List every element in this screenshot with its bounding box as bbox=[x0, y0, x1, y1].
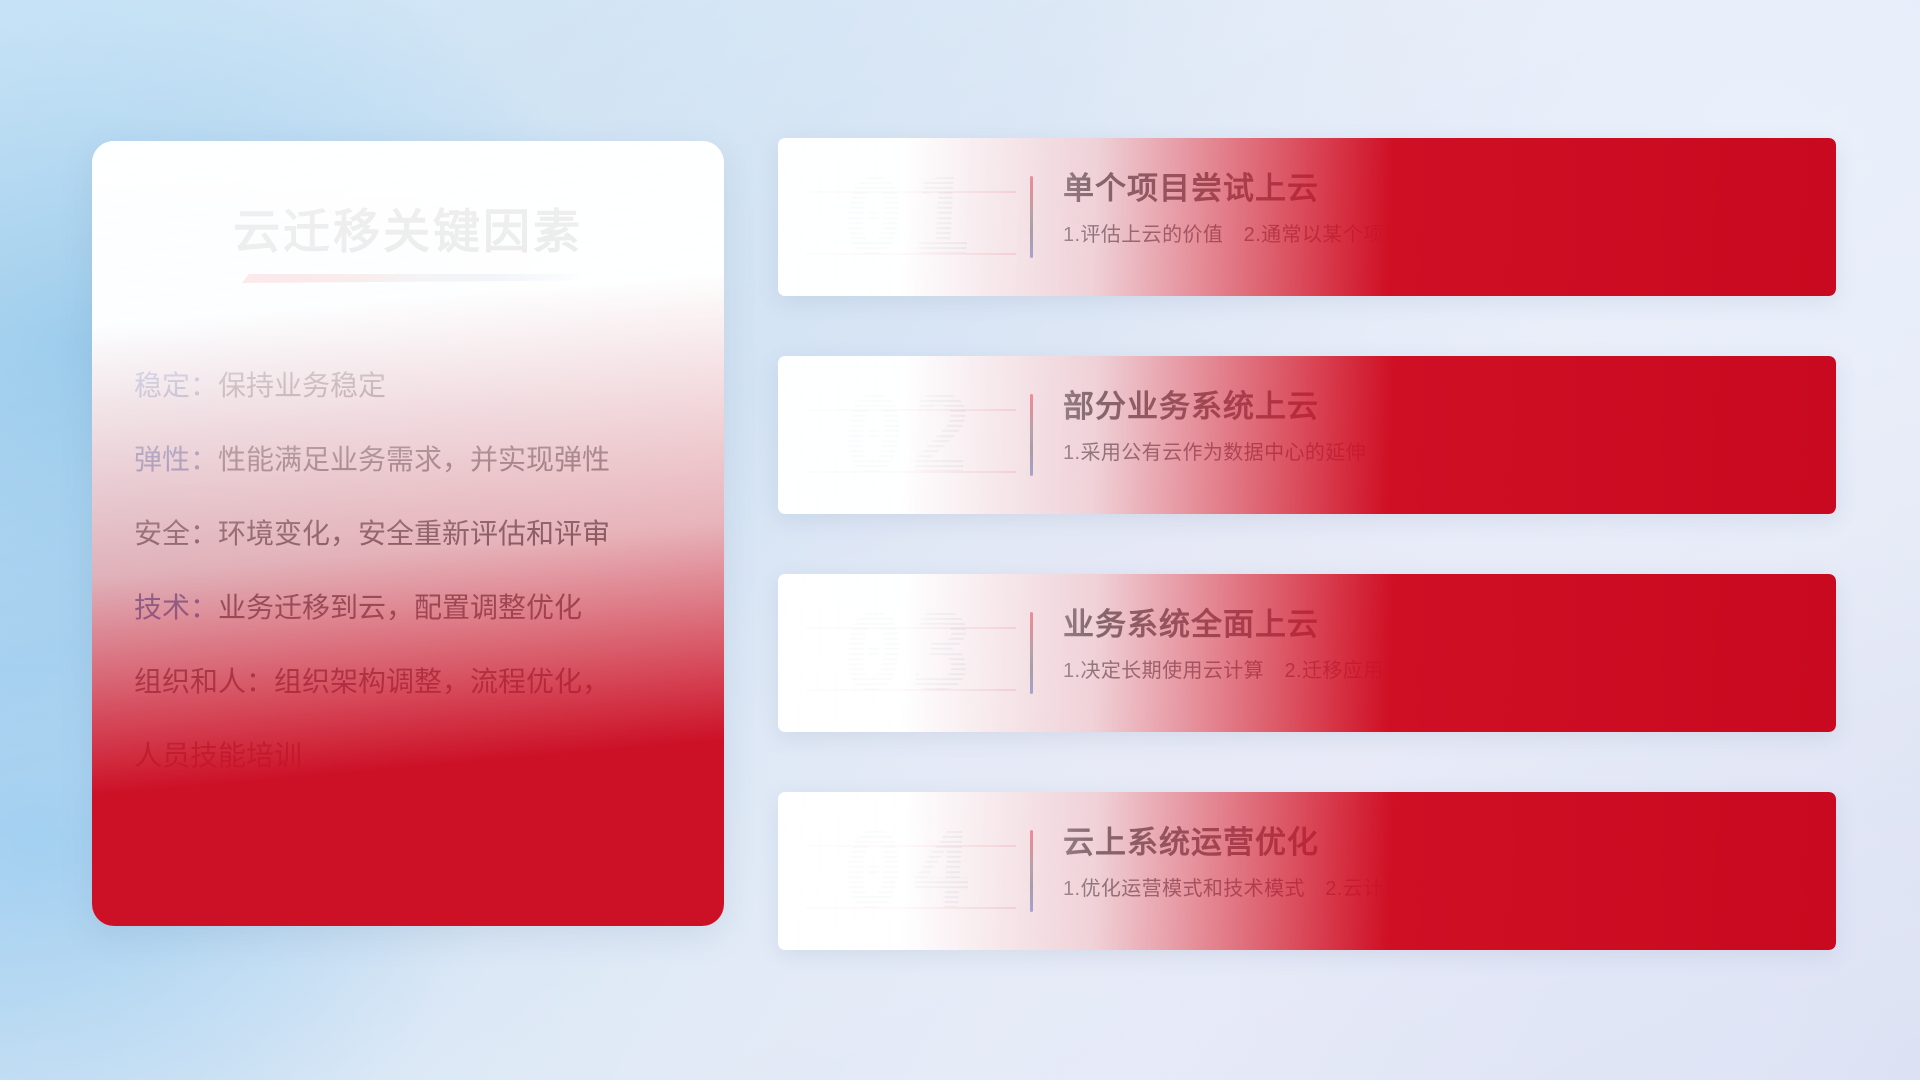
stage-number-watermark: 02 bbox=[806, 371, 1016, 499]
key-factor-text: 性能满足业务需求，并实现弹性 bbox=[218, 444, 610, 475]
stage-card-body: 云上系统运营优化1.优化运营模式和技术模式 2.云计算变成默认选项 bbox=[1063, 824, 1810, 902]
key-factors-list: 稳定：保持业务稳定弹性：性能满足业务需求，并实现弹性安全：环境变化，安全重新评估… bbox=[92, 349, 724, 793]
stage-number-text: 01 bbox=[840, 165, 983, 269]
slide-canvas: 云迁移关键因素 稳定：保持业务稳定弹性：性能满足业务需求，并实现弹性安全：环境变… bbox=[0, 0, 1920, 1080]
key-factors-panel: 云迁移关键因素 稳定：保持业务稳定弹性：性能满足业务需求，并实现弹性安全：环境变… bbox=[92, 141, 724, 926]
key-factor-text: 环境变化，安全重新评估和评审 bbox=[218, 518, 610, 549]
key-factor-label: 技术： bbox=[134, 592, 218, 623]
stage-card[interactable]: 02部分业务系统上云1.采用公有云作为数据中心的延伸 2.建立运营和安全规范 bbox=[778, 356, 1836, 514]
stage-number-text: 03 bbox=[840, 601, 983, 705]
key-factor-label: 弹性： bbox=[134, 444, 218, 475]
stage-title: 部分业务系统上云 bbox=[1063, 388, 1810, 427]
stage-number-watermark: 03 bbox=[806, 589, 1016, 717]
stage-subtitle: 1.评估上云的价值 2.通常以某个项目作为尝试 bbox=[1063, 222, 1810, 248]
stage-divider-bar bbox=[1030, 176, 1033, 258]
stage-card[interactable]: 03业务系统全面上云1.决定长期使用云计算 2.迁移应用上云，甚至包括核心应用 bbox=[778, 574, 1836, 732]
key-factor-label: 安全： bbox=[134, 518, 218, 549]
stage-subtitle: 1.优化运营模式和技术模式 2.云计算变成默认选项 bbox=[1063, 876, 1810, 902]
title-underline-accent bbox=[242, 274, 582, 283]
stage-card[interactable]: 04云上系统运营优化1.优化运营模式和技术模式 2.云计算变成默认选项 bbox=[778, 792, 1836, 950]
stage-subtitle: 1.决定长期使用云计算 2.迁移应用上云，甚至包括核心应用 bbox=[1063, 658, 1810, 684]
page-title: 云迁移关键因素 bbox=[92, 193, 724, 262]
key-factor-item: 弹性：性能满足业务需求，并实现弹性 bbox=[92, 423, 724, 497]
stage-title: 云上系统运营优化 bbox=[1063, 824, 1810, 863]
stage-title: 业务系统全面上云 bbox=[1063, 606, 1810, 645]
stage-card[interactable]: 01单个项目尝试上云1.评估上云的价值 2.通常以某个项目作为尝试 bbox=[778, 138, 1836, 296]
stage-card-body: 业务系统全面上云1.决定长期使用云计算 2.迁移应用上云，甚至包括核心应用 bbox=[1063, 606, 1810, 684]
key-factor-label: 组织和人： bbox=[134, 666, 274, 697]
key-factor-item: 技术：业务迁移到云，配置调整优化 bbox=[92, 571, 724, 645]
stage-number-text: 02 bbox=[840, 383, 983, 487]
stage-card-body: 部分业务系统上云1.采用公有云作为数据中心的延伸 2.建立运营和安全规范 bbox=[1063, 388, 1810, 466]
key-factor-item: 稳定：保持业务稳定 bbox=[92, 349, 724, 423]
stage-subtitle: 1.采用公有云作为数据中心的延伸 2.建立运营和安全规范 bbox=[1063, 440, 1810, 466]
key-factor-item: 组织和人：组织架构调整，流程优化， bbox=[92, 645, 724, 719]
stage-divider-bar bbox=[1030, 394, 1033, 476]
key-factor-label: 稳定： bbox=[134, 370, 218, 401]
key-factor-text: 保持业务稳定 bbox=[218, 370, 386, 401]
key-factor-item: 人员技能培训 bbox=[92, 719, 724, 793]
stage-number-text: 04 bbox=[840, 819, 983, 923]
key-factor-text: 业务迁移到云，配置调整优化 bbox=[218, 592, 582, 623]
stage-divider-bar bbox=[1030, 612, 1033, 694]
stage-card-list: 01单个项目尝试上云1.评估上云的价值 2.通常以某个项目作为尝试02部分业务系… bbox=[778, 138, 1836, 950]
key-factor-text: 组织架构调整，流程优化， bbox=[274, 666, 610, 697]
key-factor-item: 安全：环境变化，安全重新评估和评审 bbox=[92, 497, 724, 571]
stage-divider-bar bbox=[1030, 830, 1033, 912]
stage-number-watermark: 01 bbox=[806, 153, 1016, 281]
key-factor-text: 人员技能培训 bbox=[134, 740, 302, 771]
stage-card-body: 单个项目尝试上云1.评估上云的价值 2.通常以某个项目作为尝试 bbox=[1063, 170, 1810, 248]
stage-title: 单个项目尝试上云 bbox=[1063, 170, 1810, 209]
stage-number-watermark: 04 bbox=[806, 807, 1016, 935]
